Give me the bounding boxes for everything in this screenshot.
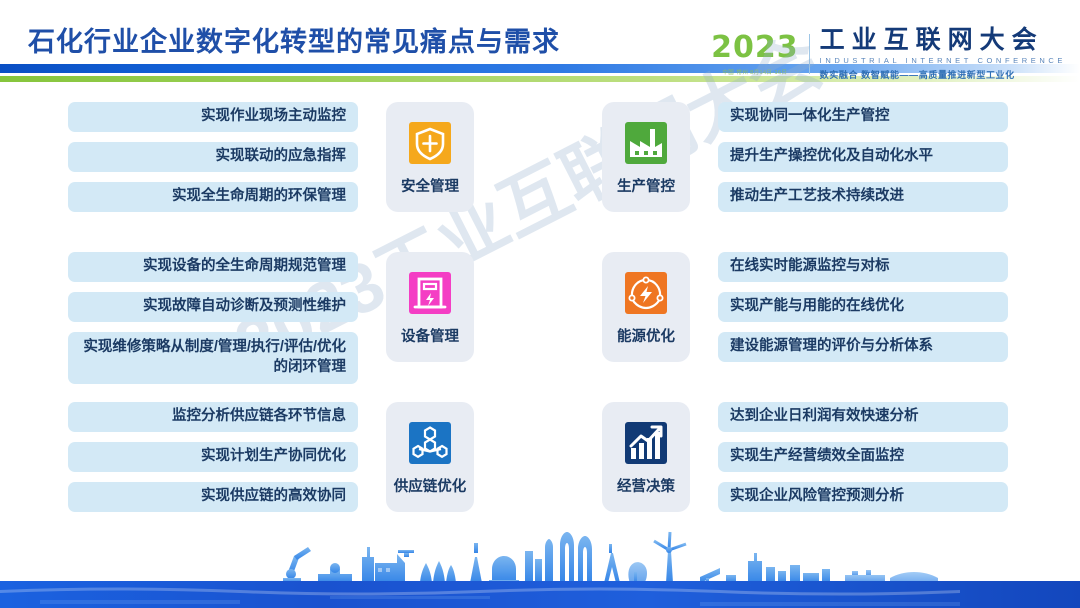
card-supply-chain-optimization[interactable]: 供应链优化 <box>386 402 474 512</box>
pill-item: 达到企业日利润有效快速分析 <box>718 402 1008 432</box>
row-safety: 实现作业现场主动监控 实现联动的应急指挥 实现全生命周期的环保管理 安全管理 <box>0 102 1080 252</box>
logo-year-subtext: 中国·常州 8月14日-16日 <box>722 68 787 76</box>
pill-item: 实现企业风险管控预测分析 <box>718 482 1008 512</box>
supply-chain-network-icon <box>406 419 454 467</box>
logo-slogan: 数实融合 数智赋能——高质量推进新型工业化 <box>820 68 1066 81</box>
conference-logo: 2023 中国·常州 8月14日-16日 工业互联网大会 INDUSTRIAL … <box>711 26 1066 82</box>
card-production-control[interactable]: 生产管控 <box>602 102 690 212</box>
pill-item: 实现生产经营绩效全面监控 <box>718 442 1008 472</box>
card-label: 设备管理 <box>401 325 459 346</box>
pill-item: 实现协同一体化生产管控 <box>718 102 1008 132</box>
left-pill-group-3: 监控分析供应链各环节信息 实现计划生产协同优化 实现供应链的高效协同 <box>68 402 358 512</box>
logo-divider <box>809 34 810 74</box>
skyline-graphic <box>0 512 1080 608</box>
left-pill-group-2: 实现设备的全生命周期规范管理 实现故障自动诊断及预测性维护 实现维修策略从制度/… <box>68 252 358 384</box>
equipment-cabinet-icon <box>406 269 454 317</box>
card-business-decision[interactable]: 经营决策 <box>602 402 690 512</box>
factory-icon <box>622 119 670 167</box>
pill-item: 实现维修策略从制度/管理/执行/评估/优化的闭环管理 <box>68 332 358 384</box>
shield-check-icon <box>406 119 454 167</box>
card-label: 生产管控 <box>617 175 675 196</box>
growth-chart-icon <box>622 419 670 467</box>
energy-bolt-icon <box>622 269 670 317</box>
page-title: 石化行业企业数字化转型的常见痛点与需求 <box>28 20 560 59</box>
left-pill-group-1: 实现作业现场主动监控 实现联动的应急指挥 实现全生命周期的环保管理 <box>68 102 358 212</box>
card-equipment-management[interactable]: 设备管理 <box>386 252 474 362</box>
logo-english-name: INDUSTRIAL INTERNET CONFERENCE <box>820 56 1066 65</box>
right-pill-group-1: 实现协同一体化生产管控 提升生产操控优化及自动化水平 推动生产工艺技术持续改进 <box>718 102 1008 212</box>
pill-item: 实现产能与用能的在线优化 <box>718 292 1008 322</box>
pill-item: 实现供应链的高效协同 <box>68 482 358 512</box>
card-label: 经营决策 <box>617 475 675 496</box>
pill-item: 实现联动的应急指挥 <box>68 142 358 172</box>
pill-item: 推动生产工艺技术持续改进 <box>718 182 1008 212</box>
logo-year-block: 2023 中国·常州 8月14日-16日 <box>711 33 809 76</box>
card-label: 供应链优化 <box>394 475 467 496</box>
logo-chinese-name: 工业互联网大会 <box>820 27 1066 53</box>
right-pill-group-3: 达到企业日利润有效快速分析 实现生产经营绩效全面监控 实现企业风险管控预测分析 <box>718 402 1008 512</box>
pill-item: 提升生产操控优化及自动化水平 <box>718 142 1008 172</box>
pill-item: 在线实时能源监控与对标 <box>718 252 1008 282</box>
right-pill-group-2: 在线实时能源监控与对标 实现产能与用能的在线优化 建设能源管理的评价与分析体系 <box>718 252 1008 362</box>
card-label: 安全管理 <box>401 175 459 196</box>
pill-item: 实现作业现场主动监控 <box>68 102 358 132</box>
slide-root: 石化行业企业数字化转型的常见痛点与需求 2023 中国·常州 8月14日-16日… <box>0 0 1080 608</box>
pill-item: 实现全生命周期的环保管理 <box>68 182 358 212</box>
row-equipment: 实现设备的全生命周期规范管理 实现故障自动诊断及预测性维护 实现维修策略从制度/… <box>0 252 1080 402</box>
card-safety-management[interactable]: 安全管理 <box>386 102 474 212</box>
pill-item: 监控分析供应链各环节信息 <box>68 402 358 432</box>
card-label: 能源优化 <box>617 325 675 346</box>
card-energy-optimization[interactable]: 能源优化 <box>602 252 690 362</box>
pill-item: 建设能源管理的评价与分析体系 <box>718 332 1008 362</box>
content-rows: 实现作业现场主动监控 实现联动的应急指挥 实现全生命周期的环保管理 安全管理 <box>0 102 1080 552</box>
pill-item: 实现故障自动诊断及预测性维护 <box>68 292 358 322</box>
pill-item: 实现计划生产协同优化 <box>68 442 358 472</box>
logo-text-block: 工业互联网大会 INDUSTRIAL INTERNET CONFERENCE 数… <box>820 27 1066 80</box>
logo-year: 2023 <box>711 33 799 63</box>
pill-item: 实现设备的全生命周期规范管理 <box>68 252 358 282</box>
footer-skyline <box>0 512 1080 608</box>
